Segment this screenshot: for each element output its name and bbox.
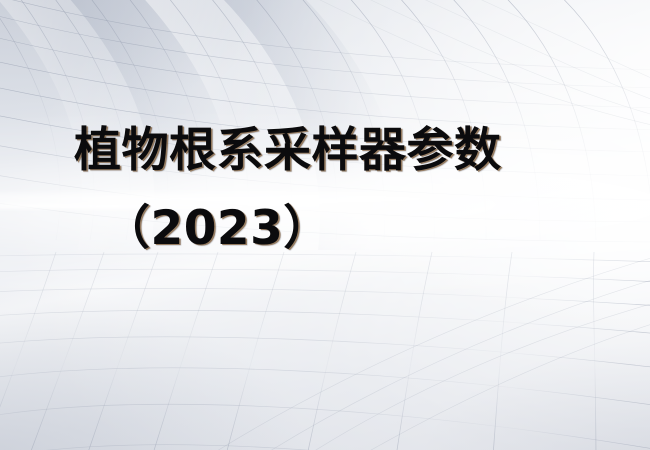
slide-title-line-1: 植物根系采样器参数 [74, 125, 502, 178]
slide-title-block: 植物根系采样器参数 （2023） [0, 0, 650, 450]
slide-title-line-2-year: （2023） [103, 203, 331, 256]
title-slide: 植物根系采样器参数 （2023） [0, 0, 650, 450]
